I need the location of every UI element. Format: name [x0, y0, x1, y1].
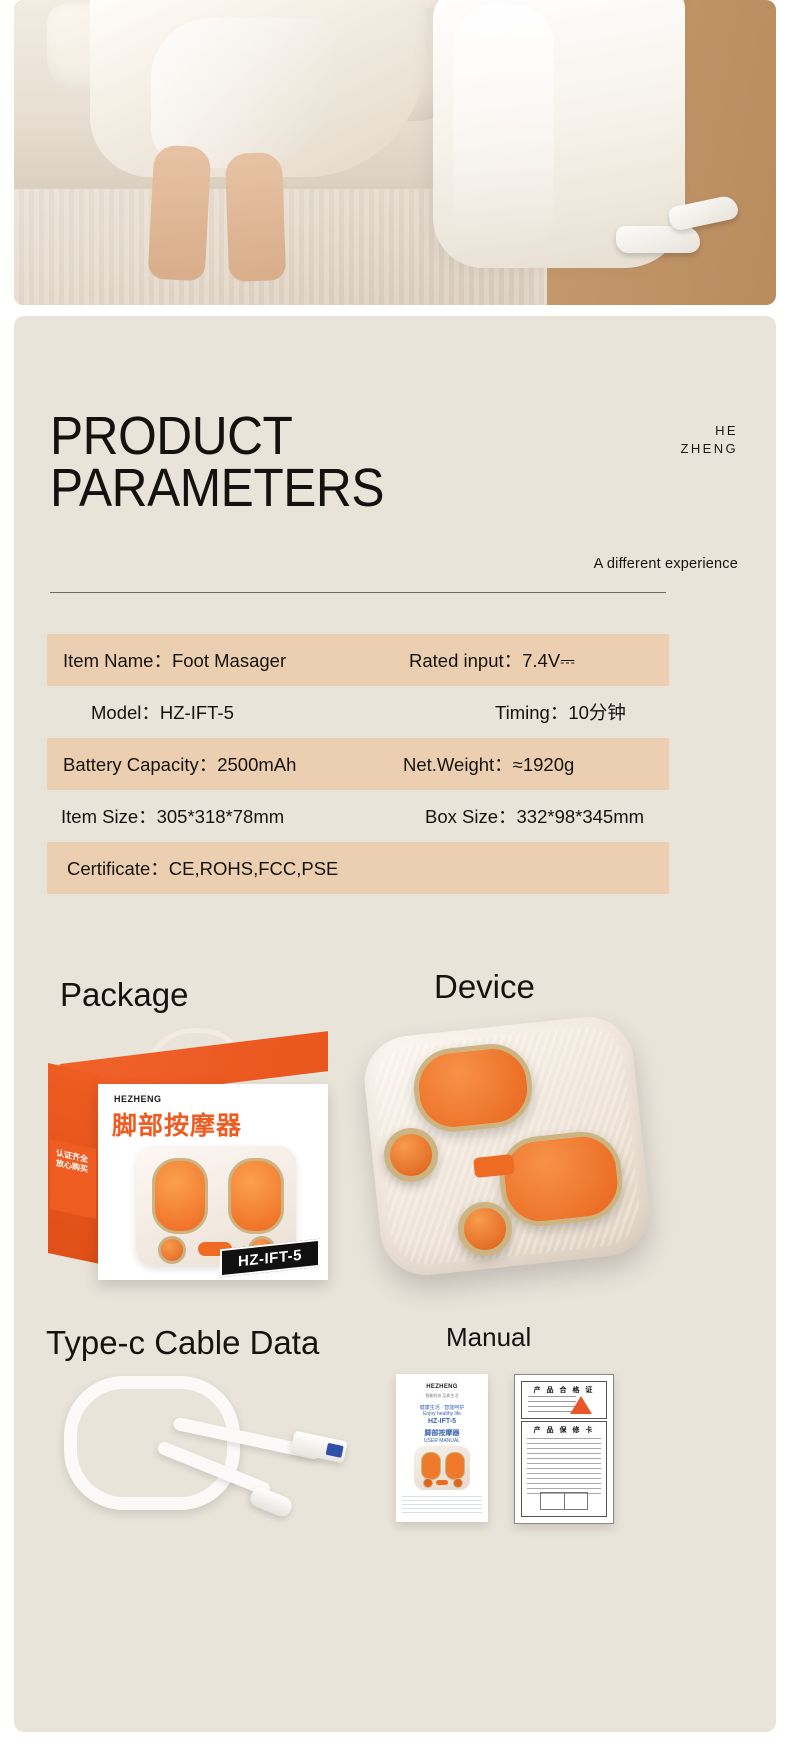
manual-pad-left [421, 1452, 441, 1480]
manual-blue-line-2: Enjoy healthy life [423, 1411, 461, 1417]
brand-logo: HE ZHENG [681, 422, 739, 458]
table-row: Item Size：305*318*78mm Box Size：332*98*3… [47, 790, 669, 842]
spec-cell-left: Model：HZ-IFT-5 [47, 699, 431, 725]
page-title-line-1: PRODUCT [50, 410, 384, 462]
massage-knob-left [158, 1236, 186, 1264]
table-row: Item Name：Foot Masager Rated input：7.4V⎓ [47, 634, 669, 686]
warranty-text-lines [527, 1438, 601, 1494]
hero-robe [90, 0, 425, 177]
warranty-title: 产 品 保 修 卡 [534, 1425, 595, 1435]
spec-cell-left: Item Name：Foot Masager [47, 647, 403, 673]
manual-label: Manual [446, 1322, 531, 1353]
certificate-lines [528, 1396, 576, 1414]
warning-triangle-icon [570, 1396, 592, 1414]
cable-loop [64, 1376, 240, 1510]
spec-cell-right: Box Size：332*98*345mm [401, 803, 669, 829]
manual-knob-left [423, 1478, 433, 1488]
box-product-name-cn: 脚部按摩器 [112, 1106, 242, 1142]
manual-images: HEZHENG 智能科技 品质生活 健康生活 · 智能呵护 Enjoy heal… [386, 1368, 686, 1538]
cable-label: Type-c Cable Data [46, 1324, 319, 1362]
spec-table: Item Name：Foot Masager Rated input：7.4V⎓… [47, 634, 669, 894]
hero-shoe-left [616, 226, 700, 253]
spec-cell-right: Net.Weight：≈1920g [403, 751, 669, 777]
manual-brand-logo: HEZHENG [426, 1384, 457, 1390]
box-brand-logo: HEZHENG [114, 1094, 162, 1104]
spec-cell-right: Timing：10分钟 [431, 699, 669, 725]
manual-usermanual-text: USER MANUAL [424, 1438, 460, 1444]
spec-cell-left: Battery Capacity：2500mAh [47, 751, 403, 777]
hero-leg-left [148, 145, 212, 282]
brand-logo-line-1: HE [681, 422, 739, 440]
device-brand-tag [473, 1154, 515, 1178]
package-box-image: HEZHENG 脚部按摩器 HZ-IFT-5 认证齐全 放心购买 [48, 1026, 338, 1296]
massage-pad-left [152, 1158, 208, 1234]
hero-leg-right [225, 152, 287, 282]
manual-pad-right [445, 1452, 465, 1480]
manual-product-cn: 脚部按摩器 [425, 1428, 460, 1438]
hero-lifestyle-photo [14, 0, 776, 305]
massage-pad-right [228, 1158, 284, 1234]
box-certification-sticker: 认证齐全 放心购买 [50, 1139, 96, 1219]
device-knob-upper [384, 1128, 438, 1182]
product-detail-page: PRODUCT PARAMETERS HE ZHENG A different … [0, 0, 790, 1746]
type-c-cable-image [54, 1366, 354, 1516]
table-row: Certificate：CE,ROHS,FCC,PSE [47, 842, 669, 894]
warranty-section: 产 品 保 修 卡 [521, 1421, 607, 1517]
page-title-line-2: PARAMETERS [50, 462, 384, 514]
device-product-image [362, 1006, 662, 1296]
header-divider [50, 592, 666, 593]
brand-logo-line-2: ZHENG [681, 440, 739, 458]
page-title: PRODUCT PARAMETERS [50, 410, 413, 514]
certificate-section: 产 品 合 格 证 [521, 1381, 607, 1419]
device-label: Device [434, 968, 535, 1006]
product-parameters-card: PRODUCT PARAMETERS HE ZHENG A different … [14, 316, 776, 1732]
manual-brand-sub: 智能科技 品质生活 [425, 1393, 458, 1399]
tagline: A different experience [594, 556, 738, 572]
usb-a-connector [290, 1431, 347, 1464]
device-knob-lower [458, 1202, 512, 1256]
warranty-table [540, 1492, 588, 1510]
box-sticker-text: 认证齐全 放心购买 [56, 1148, 90, 1175]
manual-front-cover: HEZHENG 智能科技 品质生活 健康生活 · 智能呵护 Enjoy heal… [396, 1374, 488, 1522]
table-row: Model：HZ-IFT-5 Timing：10分钟 [47, 686, 669, 738]
certificate-title: 产 品 合 格 证 [534, 1385, 595, 1395]
manual-certificate-page: 产 品 合 格 证 产 品 保 修 卡 [514, 1374, 614, 1524]
spec-cell-left: Item Size：305*318*78mm [47, 803, 401, 829]
manual-footer-text [402, 1496, 482, 1514]
table-row: Battery Capacity：2500mAh Net.Weight：≈192… [47, 738, 669, 790]
usb-c-connector [248, 1485, 294, 1519]
package-label: Package [60, 976, 188, 1014]
manual-device-illustration [414, 1446, 470, 1490]
manual-blue-line-1: 健康生活 · 智能呵护 [420, 1404, 464, 1411]
manual-model: HZ-IFT-5 [428, 1418, 456, 1425]
spec-cell-right: Rated input：7.4V⎓ [403, 647, 669, 673]
manual-knob-right [453, 1478, 463, 1488]
manual-control-button [436, 1480, 448, 1485]
spec-cell-left: Certificate：CE,ROHS,FCC,PSE [47, 855, 407, 881]
box-front-panel: HEZHENG 脚部按摩器 HZ-IFT-5 [98, 1084, 328, 1280]
